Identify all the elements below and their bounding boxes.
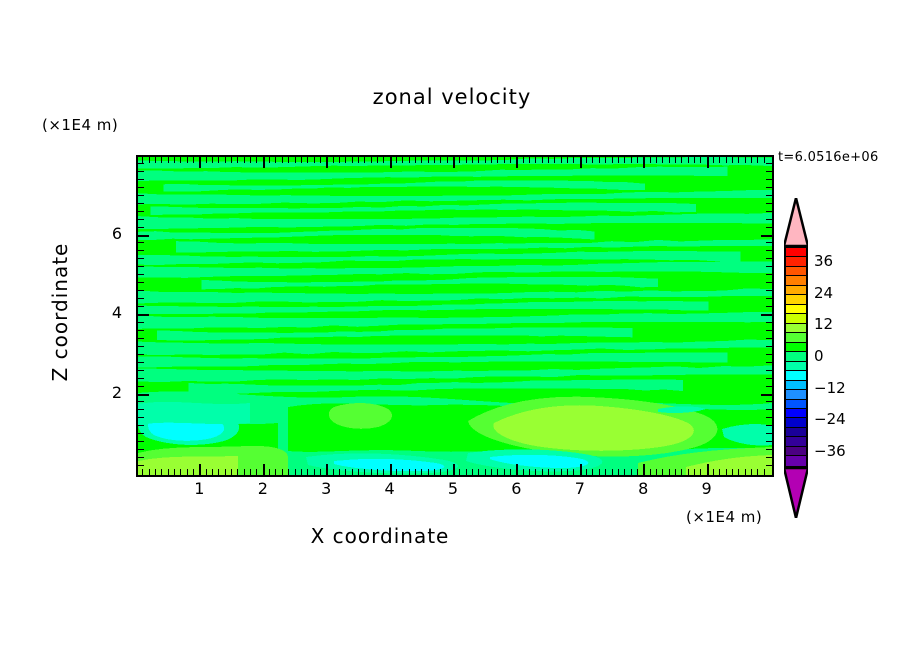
x-minor-tick bbox=[225, 469, 226, 475]
x-minor-tick bbox=[168, 469, 169, 475]
x-minor-tick bbox=[333, 157, 334, 163]
colorbar-tick-label: 24 bbox=[814, 284, 833, 302]
x-minor-tick bbox=[250, 157, 251, 163]
x-minor-tick bbox=[612, 157, 613, 163]
x-minor-tick bbox=[681, 469, 682, 475]
y-minor-tick bbox=[766, 211, 772, 212]
x-minor-tick bbox=[459, 157, 460, 163]
x-minor-tick bbox=[193, 157, 194, 163]
x-minor-tick bbox=[567, 157, 568, 163]
x-minor-tick bbox=[180, 469, 181, 475]
colorbar-band bbox=[786, 295, 806, 304]
x-minor-tick bbox=[402, 469, 403, 475]
x-minor-tick bbox=[149, 157, 150, 163]
x-minor-tick bbox=[523, 157, 524, 163]
x-minor-tick bbox=[662, 469, 663, 475]
x-minor-tick bbox=[275, 157, 276, 163]
x-minor-tick bbox=[586, 469, 587, 475]
y-minor-tick bbox=[138, 203, 144, 204]
y-minor-tick bbox=[766, 441, 772, 442]
y-minor-tick bbox=[766, 227, 772, 228]
x-minor-tick bbox=[225, 157, 226, 163]
colorbar-band bbox=[786, 267, 806, 276]
y-minor-tick bbox=[766, 250, 772, 251]
x-minor-tick bbox=[447, 157, 448, 163]
x-minor-tick bbox=[491, 157, 492, 163]
x-major-tick bbox=[453, 464, 455, 475]
x-minor-tick bbox=[605, 469, 606, 475]
x-minor-tick bbox=[688, 469, 689, 475]
x-minor-tick bbox=[764, 469, 765, 475]
x-major-tick bbox=[453, 157, 455, 168]
x-minor-tick bbox=[554, 469, 555, 475]
x-minor-tick bbox=[409, 469, 410, 475]
y-minor-tick bbox=[766, 298, 772, 299]
x-major-tick bbox=[707, 157, 709, 168]
x-minor-tick bbox=[732, 157, 733, 163]
y-minor-tick bbox=[766, 195, 772, 196]
y-minor-tick bbox=[766, 338, 772, 339]
x-minor-tick bbox=[618, 469, 619, 475]
x-minor-tick bbox=[548, 469, 549, 475]
x-minor-tick bbox=[352, 469, 353, 475]
x-minor-tick bbox=[573, 157, 574, 163]
x-minor-tick bbox=[402, 157, 403, 163]
x-minor-tick bbox=[599, 469, 600, 475]
y-major-tick bbox=[761, 314, 772, 316]
x-minor-tick bbox=[612, 469, 613, 475]
x-major-tick bbox=[263, 157, 265, 168]
x-minor-tick bbox=[314, 157, 315, 163]
colorbar-band bbox=[786, 428, 806, 437]
x-minor-tick bbox=[675, 157, 676, 163]
x-minor-tick bbox=[161, 469, 162, 475]
colorbar-band bbox=[786, 437, 806, 446]
y-minor-tick bbox=[766, 290, 772, 291]
y-tick-label: 2 bbox=[96, 383, 122, 402]
y-minor-tick bbox=[138, 322, 144, 323]
colorbar-band bbox=[786, 456, 806, 465]
x-minor-tick bbox=[421, 469, 422, 475]
y-minor-tick bbox=[766, 457, 772, 458]
x-minor-tick bbox=[637, 469, 638, 475]
x-minor-tick bbox=[567, 469, 568, 475]
x-minor-tick bbox=[231, 157, 232, 163]
x-minor-tick bbox=[732, 469, 733, 475]
x-minor-tick bbox=[504, 157, 505, 163]
x-minor-tick bbox=[142, 469, 143, 475]
x-minor-tick bbox=[206, 469, 207, 475]
x-minor-tick bbox=[573, 469, 574, 475]
x-minor-tick bbox=[295, 469, 296, 475]
y-minor-tick bbox=[766, 465, 772, 466]
y-minor-tick bbox=[138, 401, 144, 402]
x-minor-tick bbox=[396, 157, 397, 163]
page-title: zonal velocity bbox=[0, 85, 904, 109]
x-major-tick bbox=[643, 157, 645, 168]
y-minor-tick bbox=[766, 433, 772, 434]
y-minor-tick bbox=[138, 330, 144, 331]
x-minor-tick bbox=[650, 469, 651, 475]
x-minor-tick bbox=[161, 157, 162, 163]
y-minor-tick bbox=[766, 282, 772, 283]
y-major-tick bbox=[761, 235, 772, 237]
colorbar-underflow-arrow bbox=[784, 468, 808, 518]
y-minor-tick bbox=[138, 163, 144, 164]
colorbar-band bbox=[786, 276, 806, 285]
colorbar-band bbox=[786, 381, 806, 390]
x-minor-tick bbox=[700, 157, 701, 163]
x-minor-tick bbox=[371, 469, 372, 475]
x-minor-tick bbox=[244, 469, 245, 475]
x-minor-tick bbox=[447, 469, 448, 475]
x-minor-tick bbox=[244, 157, 245, 163]
x-major-tick bbox=[390, 464, 392, 475]
colorbar-band bbox=[786, 371, 806, 380]
x-minor-tick bbox=[745, 469, 746, 475]
x-minor-tick bbox=[333, 469, 334, 475]
colorbar: 3624120−12−24−36 bbox=[781, 198, 901, 518]
y-minor-tick bbox=[766, 171, 772, 172]
x-minor-tick bbox=[510, 157, 511, 163]
x-minor-tick bbox=[237, 469, 238, 475]
x-minor-tick bbox=[269, 157, 270, 163]
y-minor-tick bbox=[138, 187, 144, 188]
time-annotation: t=6.0516e+06 bbox=[778, 150, 879, 165]
x-major-tick bbox=[263, 464, 265, 475]
x-minor-tick bbox=[605, 157, 606, 163]
y-minor-tick bbox=[138, 171, 144, 172]
x-minor-tick bbox=[466, 469, 467, 475]
x-minor-tick bbox=[650, 157, 651, 163]
x-minor-tick bbox=[320, 469, 321, 475]
x-minor-tick bbox=[218, 469, 219, 475]
x-minor-tick bbox=[218, 157, 219, 163]
y-minor-tick bbox=[766, 219, 772, 220]
x-minor-tick bbox=[466, 157, 467, 163]
x-minor-tick bbox=[301, 157, 302, 163]
y-axis-unit-label: (×1E4 m) bbox=[42, 116, 118, 134]
x-minor-tick bbox=[523, 469, 524, 475]
x-minor-tick bbox=[364, 157, 365, 163]
colorbar-tick-label: −36 bbox=[814, 442, 846, 460]
x-major-tick bbox=[580, 464, 582, 475]
x-minor-tick bbox=[669, 157, 670, 163]
x-minor-tick bbox=[307, 157, 308, 163]
colorbar-band bbox=[786, 352, 806, 361]
y-minor-tick bbox=[138, 258, 144, 259]
x-minor-tick bbox=[764, 157, 765, 163]
x-minor-tick bbox=[275, 469, 276, 475]
y-minor-tick bbox=[766, 322, 772, 323]
x-minor-tick bbox=[377, 157, 378, 163]
colorbar-band bbox=[786, 324, 806, 333]
x-minor-tick bbox=[320, 157, 321, 163]
y-minor-tick bbox=[138, 417, 144, 418]
x-minor-tick bbox=[288, 469, 289, 475]
x-minor-tick bbox=[440, 469, 441, 475]
y-minor-tick bbox=[138, 346, 144, 347]
x-minor-tick bbox=[440, 157, 441, 163]
x-major-tick bbox=[199, 464, 201, 475]
x-minor-tick bbox=[434, 157, 435, 163]
x-minor-tick bbox=[700, 469, 701, 475]
colorbar-band bbox=[786, 257, 806, 266]
x-minor-tick bbox=[339, 157, 340, 163]
x-tick-label: 1 bbox=[179, 479, 219, 498]
x-minor-tick bbox=[675, 469, 676, 475]
y-minor-tick bbox=[138, 457, 144, 458]
y-minor-tick bbox=[138, 179, 144, 180]
x-tick-label: 4 bbox=[370, 479, 410, 498]
x-minor-tick bbox=[180, 157, 181, 163]
y-minor-tick bbox=[138, 298, 144, 299]
x-tick-label: 9 bbox=[687, 479, 727, 498]
x-major-tick bbox=[390, 157, 392, 168]
x-minor-tick bbox=[757, 469, 758, 475]
x-minor-tick bbox=[738, 157, 739, 163]
x-minor-tick bbox=[314, 469, 315, 475]
contour-figure: zonal velocity (×1E4 m) t=6.0516e+06 123… bbox=[0, 0, 904, 654]
colorbar-band bbox=[786, 362, 806, 371]
x-axis-title: X coordinate bbox=[0, 524, 760, 548]
y-minor-tick bbox=[766, 354, 772, 355]
y-minor-tick bbox=[138, 386, 144, 387]
colorbar-band bbox=[786, 286, 806, 295]
x-major-tick bbox=[516, 157, 518, 168]
x-minor-tick bbox=[428, 157, 429, 163]
y-minor-tick bbox=[766, 179, 772, 180]
y-minor-tick bbox=[138, 274, 144, 275]
x-major-tick bbox=[707, 464, 709, 475]
x-minor-tick bbox=[542, 157, 543, 163]
x-minor-tick bbox=[459, 469, 460, 475]
colorbar-band bbox=[786, 333, 806, 342]
y-major-tick bbox=[138, 235, 149, 237]
x-minor-tick bbox=[586, 157, 587, 163]
x-minor-tick bbox=[535, 157, 536, 163]
x-minor-tick bbox=[745, 157, 746, 163]
x-minor-tick bbox=[282, 157, 283, 163]
y-minor-tick bbox=[766, 330, 772, 331]
x-minor-tick bbox=[618, 157, 619, 163]
y-tick-label: 6 bbox=[96, 224, 122, 243]
colorbar-band bbox=[786, 409, 806, 418]
x-minor-tick bbox=[631, 157, 632, 163]
y-minor-tick bbox=[766, 401, 772, 402]
x-minor-tick bbox=[187, 157, 188, 163]
y-minor-tick bbox=[766, 306, 772, 307]
y-minor-tick bbox=[766, 242, 772, 243]
x-minor-tick bbox=[256, 469, 257, 475]
x-tick-label: 6 bbox=[496, 479, 536, 498]
x-minor-tick bbox=[497, 157, 498, 163]
x-minor-tick bbox=[726, 469, 727, 475]
colorbar-tick-label: 12 bbox=[814, 315, 833, 333]
colorbar-band bbox=[786, 343, 806, 352]
x-minor-tick bbox=[295, 157, 296, 163]
x-minor-tick bbox=[497, 469, 498, 475]
x-minor-tick bbox=[364, 469, 365, 475]
y-major-tick bbox=[138, 394, 149, 396]
x-minor-tick bbox=[421, 157, 422, 163]
x-minor-tick bbox=[637, 157, 638, 163]
x-minor-tick bbox=[529, 157, 530, 163]
x-minor-tick bbox=[504, 469, 505, 475]
x-minor-tick bbox=[561, 157, 562, 163]
y-minor-tick bbox=[138, 306, 144, 307]
y-minor-tick bbox=[138, 433, 144, 434]
y-major-tick bbox=[138, 314, 149, 316]
x-minor-tick bbox=[713, 157, 714, 163]
x-minor-tick bbox=[510, 469, 511, 475]
y-minor-tick bbox=[138, 441, 144, 442]
x-minor-tick bbox=[491, 469, 492, 475]
y-tick-label: 4 bbox=[96, 303, 122, 322]
x-minor-tick bbox=[415, 157, 416, 163]
y-minor-tick bbox=[138, 449, 144, 450]
x-major-tick bbox=[199, 157, 201, 168]
colorbar-tick-label: 0 bbox=[814, 347, 824, 365]
x-minor-tick bbox=[472, 469, 473, 475]
y-minor-tick bbox=[138, 211, 144, 212]
colorbar-band bbox=[786, 390, 806, 399]
bottom-positive-core-left bbox=[138, 456, 238, 475]
x-minor-tick bbox=[174, 157, 175, 163]
y-minor-tick bbox=[138, 242, 144, 243]
colorbar-overflow-arrow bbox=[784, 198, 808, 246]
x-minor-tick bbox=[415, 469, 416, 475]
x-minor-tick bbox=[383, 469, 384, 475]
x-minor-tick bbox=[726, 157, 727, 163]
x-minor-tick bbox=[155, 157, 156, 163]
x-minor-tick bbox=[174, 469, 175, 475]
x-minor-tick bbox=[713, 469, 714, 475]
colorbar-band bbox=[786, 248, 806, 257]
y-axis-title: Z coordinate bbox=[48, 192, 72, 432]
colorbar-bands bbox=[784, 246, 808, 468]
x-minor-tick bbox=[751, 157, 752, 163]
x-minor-tick bbox=[624, 469, 625, 475]
y-minor-tick bbox=[138, 362, 144, 363]
x-major-tick bbox=[580, 157, 582, 168]
colorbar-band bbox=[786, 418, 806, 427]
x-minor-tick bbox=[631, 469, 632, 475]
x-minor-tick bbox=[282, 469, 283, 475]
x-minor-tick bbox=[757, 157, 758, 163]
y-minor-tick bbox=[138, 338, 144, 339]
x-minor-tick bbox=[656, 157, 657, 163]
x-minor-tick bbox=[688, 157, 689, 163]
y-minor-tick bbox=[138, 290, 144, 291]
y-minor-tick bbox=[766, 187, 772, 188]
y-minor-tick bbox=[138, 370, 144, 371]
x-major-tick bbox=[326, 464, 328, 475]
colorbar-band bbox=[786, 305, 806, 314]
colorbar-tick-label: −12 bbox=[814, 379, 846, 397]
x-minor-tick bbox=[237, 157, 238, 163]
colorbar-tick-label: 36 bbox=[814, 252, 833, 270]
x-minor-tick bbox=[339, 469, 340, 475]
x-major-tick bbox=[326, 157, 328, 168]
y-minor-tick bbox=[766, 449, 772, 450]
x-minor-tick bbox=[155, 469, 156, 475]
x-minor-tick bbox=[345, 157, 346, 163]
colorbar-band bbox=[786, 314, 806, 323]
x-minor-tick bbox=[681, 157, 682, 163]
x-minor-tick bbox=[250, 469, 251, 475]
x-minor-tick bbox=[535, 469, 536, 475]
x-minor-tick bbox=[231, 469, 232, 475]
x-minor-tick bbox=[592, 469, 593, 475]
y-minor-tick bbox=[766, 362, 772, 363]
y-minor-tick bbox=[766, 274, 772, 275]
x-minor-tick bbox=[288, 157, 289, 163]
x-major-tick bbox=[643, 464, 645, 475]
x-minor-tick bbox=[428, 469, 429, 475]
y-minor-tick bbox=[766, 417, 772, 418]
y-minor-tick bbox=[766, 386, 772, 387]
x-minor-tick bbox=[301, 469, 302, 475]
x-minor-tick bbox=[719, 157, 720, 163]
x-minor-tick bbox=[212, 469, 213, 475]
x-minor-tick bbox=[168, 157, 169, 163]
y-minor-tick bbox=[766, 346, 772, 347]
x-minor-tick bbox=[371, 157, 372, 163]
x-minor-tick bbox=[548, 157, 549, 163]
x-minor-tick bbox=[358, 469, 359, 475]
x-tick-label: 2 bbox=[243, 479, 283, 498]
x-minor-tick bbox=[694, 157, 695, 163]
y-minor-tick bbox=[138, 354, 144, 355]
x-minor-tick bbox=[478, 469, 479, 475]
y-minor-tick bbox=[138, 282, 144, 283]
x-minor-tick bbox=[187, 469, 188, 475]
x-minor-tick bbox=[269, 469, 270, 475]
x-minor-tick bbox=[485, 469, 486, 475]
x-minor-tick bbox=[206, 157, 207, 163]
colorbar-band bbox=[786, 447, 806, 456]
x-tick-label: 5 bbox=[433, 479, 473, 498]
y-minor-tick bbox=[138, 227, 144, 228]
y-minor-tick bbox=[766, 370, 772, 371]
x-minor-tick bbox=[561, 469, 562, 475]
x-tick-label: 7 bbox=[560, 479, 600, 498]
y-minor-tick bbox=[138, 195, 144, 196]
teal-band-left bbox=[138, 402, 250, 425]
contour-field bbox=[138, 157, 772, 475]
y-minor-tick bbox=[138, 409, 144, 410]
x-minor-tick bbox=[542, 469, 543, 475]
x-minor-tick bbox=[554, 157, 555, 163]
colorbar-tick-label: −24 bbox=[814, 410, 846, 428]
y-minor-tick bbox=[138, 425, 144, 426]
x-minor-tick bbox=[193, 469, 194, 475]
x-tick-label: 3 bbox=[306, 479, 346, 498]
x-minor-tick bbox=[472, 157, 473, 163]
x-minor-tick bbox=[345, 469, 346, 475]
y-minor-tick bbox=[766, 203, 772, 204]
x-minor-tick bbox=[149, 469, 150, 475]
y-minor-tick bbox=[766, 266, 772, 267]
x-minor-tick bbox=[662, 157, 663, 163]
x-minor-tick bbox=[383, 157, 384, 163]
y-minor-tick bbox=[138, 465, 144, 466]
x-minor-tick bbox=[592, 157, 593, 163]
y-minor-tick bbox=[766, 258, 772, 259]
x-minor-tick bbox=[751, 469, 752, 475]
x-minor-tick bbox=[409, 157, 410, 163]
